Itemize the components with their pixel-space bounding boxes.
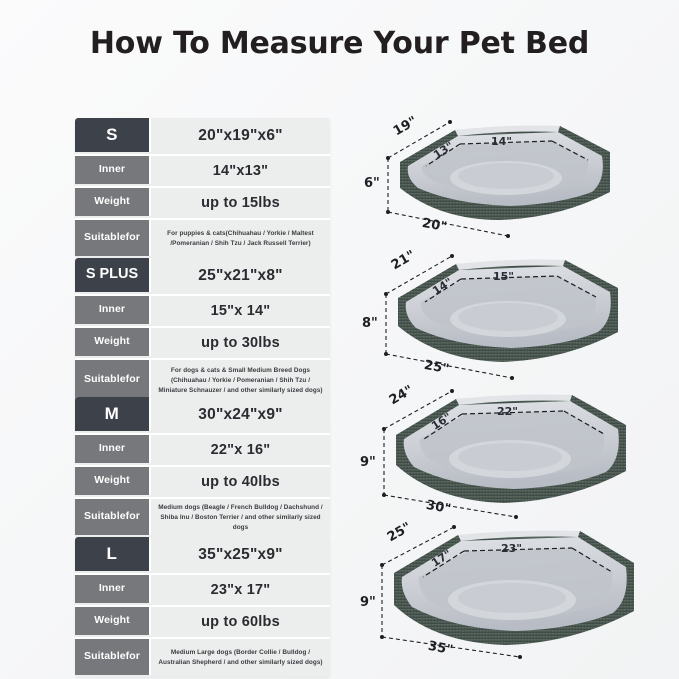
table-row-inner: Inner 14"x13" [75, 156, 330, 188]
dim-height-label: 9" [360, 595, 376, 610]
table-row-inner: Inner 23"x 17" [75, 575, 330, 607]
table-row-size: S 20"x19"x6" [75, 118, 330, 156]
dim-height-label: 8" [362, 316, 378, 331]
size-name-cell: S [75, 118, 151, 152]
inner-value-cell: 23"x 17" [151, 575, 330, 605]
bed-svg [360, 519, 679, 659]
weight-label-cell: Weight [75, 467, 151, 495]
size-name-cell: L [75, 537, 151, 571]
suitable-line: For puppies & cats(Chihuahau / Yorkie / … [167, 229, 314, 239]
table-row-size: S PLUS 25"x21"x8" [75, 258, 330, 296]
suitable-line: Medium Large dogs (Border Collie / Bulld… [158, 648, 322, 658]
table-row-inner: Inner 22"x 16" [75, 435, 330, 467]
inner-value-cell: 14"x13" [151, 156, 330, 186]
bed-illustration-l: 25" 9" 35" 17" 23" [360, 519, 679, 659]
weight-value-cell: up to 15lbs [151, 188, 330, 218]
size-block-l: L 35"x25"x9" Inner 23"x 17" Weight up to… [0, 519, 679, 659]
size-dimensions-cell: 35"x25"x9" [151, 537, 330, 573]
size-dimensions-cell: 30"x24"x9" [151, 397, 330, 433]
dim-inner-width-label: 22" [497, 405, 518, 418]
spec-table-l: L 35"x25"x9" Inner 23"x 17" Weight up to… [75, 537, 330, 677]
size-dimensions-cell: 25"x21"x8" [151, 258, 330, 294]
table-row-weight: Weight up to 15lbs [75, 188, 330, 220]
inner-label-cell: Inner [75, 296, 151, 324]
suitable-label-line1: Suitable [84, 651, 126, 662]
size-block-s-plus: S PLUS 25"x21"x8" Inner 15"x 14" Weight … [0, 240, 679, 380]
suitable-line: Australian Shepherd / and other similarl… [158, 658, 322, 668]
table-row-weight: Weight up to 60lbs [75, 607, 330, 639]
table-row-inner: Inner 15"x 14" [75, 296, 330, 328]
dim-inner-width-label: 14" [491, 135, 512, 148]
suitable-line: Medium dogs (Beagle / French Bulldog / D… [157, 503, 324, 513]
weight-label-cell: Weight [75, 607, 151, 635]
inner-label-cell: Inner [75, 435, 151, 463]
bed-illustration-s: 19" 6" 20" 13" 14" [360, 100, 679, 240]
weight-value-cell: up to 60lbs [151, 607, 330, 637]
suitable-line: For dogs & cats & Small Medium Breed Dog… [158, 366, 322, 376]
size-dimensions-cell: 20"x19"x6" [151, 118, 330, 154]
weight-value-cell: up to 30lbs [151, 328, 330, 358]
inner-value-cell: 15"x 14" [151, 296, 330, 326]
weight-label-cell: Weight [75, 328, 151, 356]
bed-illustration-s-plus: 21" 8" 25" 14" 15" [360, 240, 679, 380]
page-title: How To Measure Your Pet Bed [0, 26, 679, 61]
spec-table-m: M 30"x24"x9" Inner 22"x 16" Weight up to… [75, 397, 330, 537]
suitable-value-cell: Medium Large dogs (Border Collie / Bulld… [151, 639, 330, 677]
size-name-cell: S PLUS [75, 258, 151, 292]
table-row-size: L 35"x25"x9" [75, 537, 330, 575]
size-name-cell: M [75, 397, 151, 431]
dim-inner-width-label: 23" [501, 542, 522, 555]
table-row-suitable: Suitable for Medium Large dogs (Border C… [75, 639, 330, 677]
inner-value-cell: 22"x 16" [151, 435, 330, 465]
dim-height-label: 6" [364, 176, 380, 191]
table-row-weight: Weight up to 30lbs [75, 328, 330, 360]
size-block-s: S 20"x19"x6" Inner 14"x13" Weight up to … [0, 100, 679, 240]
size-block-m: M 30"x24"x9" Inner 22"x 16" Weight up to… [0, 379, 679, 519]
table-row-size: M 30"x24"x9" [75, 397, 330, 435]
weight-value-cell: up to 40lbs [151, 467, 330, 497]
inner-label-cell: Inner [75, 575, 151, 603]
inner-label-cell: Inner [75, 156, 151, 184]
pet-bed-size-guide: How To Measure Your Pet Bed S 20"x19"x6"… [0, 0, 679, 679]
table-row-weight: Weight up to 40lbs [75, 467, 330, 499]
dim-inner-width-label: 15" [493, 270, 514, 283]
suitable-label-cell: Suitable for [75, 639, 151, 675]
spec-table-s: S 20"x19"x6" Inner 14"x13" Weight up to … [75, 118, 330, 258]
dim-height-label: 9" [360, 455, 376, 470]
bed-illustration-m: 24" 9" 30" 16" 22" [360, 379, 679, 519]
suitable-label-line2: for [126, 651, 140, 662]
weight-label-cell: Weight [75, 188, 151, 216]
